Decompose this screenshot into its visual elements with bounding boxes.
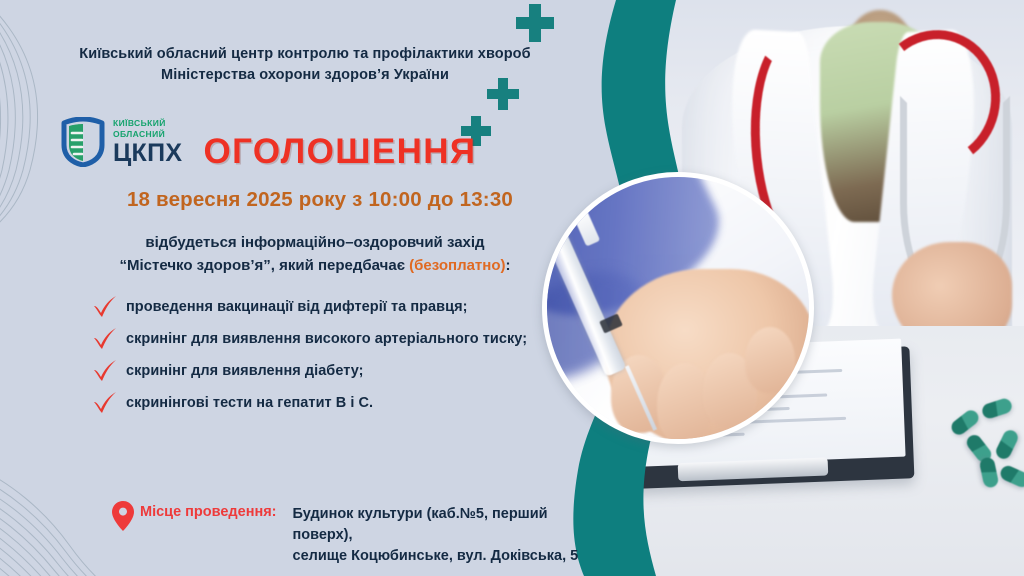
organization-title-line-1: Київський обласний центр контролю та про… bbox=[40, 44, 570, 65]
list-item: скринінг для виявлення діабету; bbox=[92, 356, 562, 386]
checkmark-icon bbox=[92, 359, 118, 383]
event-description-line-2: “Містечко здоров’я”, який передбачає (бе… bbox=[80, 255, 550, 278]
location-address-line-3: селище Коцюбинське, вул. Доківська, 5 bbox=[293, 546, 579, 567]
location-address-line-1: Будинок культури (каб.№5, перший bbox=[293, 504, 579, 525]
list-item: скринінгові тести на гепатит В і С. bbox=[92, 388, 562, 418]
event-description-prefix: “Містечко здоров’я”, який передбачає bbox=[120, 257, 410, 274]
checkmark-icon bbox=[92, 391, 118, 415]
event-description-suffix: : bbox=[506, 257, 511, 274]
list-item-label: скринінгові тести на гепатит В і С. bbox=[126, 395, 373, 411]
shield-icon bbox=[60, 117, 106, 167]
location-label: Місце проведення: bbox=[140, 504, 277, 520]
checkmark-icon bbox=[92, 295, 118, 319]
event-date-time: 18 вересня 2025 року з 10:00 до 13:30 bbox=[60, 188, 580, 212]
list-item: скринінг для виявлення високого артеріал… bbox=[92, 324, 562, 354]
poster-content: Київський обласний центр контролю та про… bbox=[0, 0, 1024, 576]
location-address-line-2: поверх), bbox=[293, 525, 579, 546]
poster-canvas: Київський обласний центр контролю та про… bbox=[0, 0, 1024, 576]
list-item: проведення вакцинації від дифтерії та пр… bbox=[92, 292, 562, 322]
organization-title: Київський обласний центр контролю та про… bbox=[40, 44, 570, 85]
checkmark-icon bbox=[92, 327, 118, 351]
location-address: Будинок культури (каб.№5, перший поверх)… bbox=[293, 504, 579, 567]
free-badge: (безоплатно) bbox=[409, 257, 505, 274]
logo-kicker-line-1: КИЇВСЬКИЙ bbox=[113, 118, 182, 128]
list-item-label: проведення вакцинації від дифтерії та пр… bbox=[126, 299, 467, 315]
map-pin-icon bbox=[112, 501, 134, 531]
event-description: відбудеться інформаційно–оздоровчий захі… bbox=[80, 232, 550, 278]
list-item-label: скринінг для виявлення діабету; bbox=[126, 363, 364, 379]
list-item-label: скринінг для виявлення високого артеріал… bbox=[126, 331, 527, 347]
organization-title-line-2: Міністерства охорони здоров’я України bbox=[40, 65, 570, 86]
location-block: Місце проведення: Будинок культури (каб.… bbox=[112, 500, 578, 567]
services-list: проведення вакцинації від дифтерії та пр… bbox=[92, 292, 562, 420]
event-description-line-1: відбудеться інформаційно–оздоровчий захі… bbox=[80, 232, 550, 255]
page-title: ОГОЛОШЕННЯ bbox=[140, 132, 540, 172]
